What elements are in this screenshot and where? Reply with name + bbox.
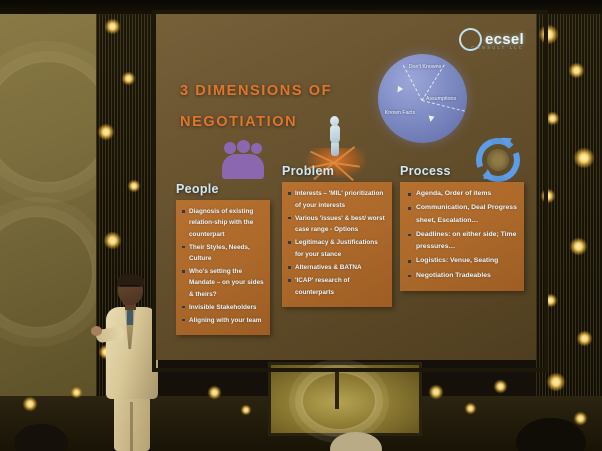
list-item: Communication, Deal Progress sheet, Esca… — [405, 202, 519, 227]
logo-tagline: CONSULT LLC — [471, 45, 524, 50]
list-item: Logistics: Venue, Seating — [405, 255, 519, 268]
sphere-label-dont-knowns: Don't Knowns — [408, 64, 442, 71]
bullet-box-problem: Interests – 'MIL' prioritization of your… — [282, 182, 392, 307]
conference-room-photo: 3 DIMENSIONS OF NEGOTIATION ecsel CONSUL… — [0, 0, 602, 451]
ambient-light — [570, 238, 587, 255]
list-item: Interests – 'MIL' prioritization of your… — [287, 188, 387, 211]
ambient-light — [577, 331, 592, 346]
list-item: Their Styles, Needs, Culture — [181, 242, 265, 265]
ambient-light — [547, 373, 565, 391]
list-item: Legitimacy & Justifications for your sta… — [287, 237, 387, 260]
list-item: Who's setting the Mandate – on your side… — [181, 266, 265, 300]
ambient-light — [241, 405, 251, 415]
list-item: Agenda, Order of items — [405, 188, 519, 201]
ambient-light — [105, 19, 120, 34]
presenter-tie — [127, 309, 133, 325]
ambient-light — [574, 148, 594, 168]
ambient-light — [128, 180, 140, 192]
ambient-light — [574, 412, 587, 425]
bullet-list-process: Agenda, Order of items Communication, De… — [405, 188, 519, 282]
ambient-light — [23, 397, 37, 411]
column-problem: Problem Interests – 'MIL' prioritization… — [282, 164, 392, 307]
bullet-list-people: Diagnosis of existing relation-ship with… — [181, 206, 265, 326]
ambient-light — [122, 72, 135, 85]
list-item: 'ICAP' research of counterparts — [287, 275, 387, 298]
ambient-light — [465, 403, 476, 414]
sphere-arrow-1 — [395, 86, 403, 94]
decorative-art-panel — [268, 362, 422, 436]
ambient-light — [208, 386, 221, 399]
column-people: People Diagnosis of existing relation-sh… — [176, 182, 270, 335]
list-item: Alternatives & BATNA — [287, 262, 387, 274]
column-heading-problem: Problem — [282, 164, 392, 178]
column-heading-people: People — [176, 182, 270, 196]
sphere-label-known-facts: Known Facts — [384, 110, 416, 117]
list-item: Aligning with your team — [181, 315, 265, 326]
column-process: Process Agenda, Order of items Communica… — [400, 164, 524, 291]
list-item: Deadlines: on either side; Time pressure… — [405, 229, 519, 254]
list-item: Invisible Stakeholders — [181, 302, 265, 313]
sphere-arrow-2 — [428, 116, 435, 123]
ambient-light — [104, 232, 121, 249]
ambient-light — [494, 380, 507, 393]
column-heading-process: Process — [400, 164, 524, 178]
projection-screen: 3 DIMENSIONS OF NEGOTIATION ecsel CONSUL… — [156, 14, 536, 360]
list-item: Diagnosis of existing relation-ship with… — [181, 206, 265, 240]
sphere-label-assumptions: Assumptions — [422, 96, 460, 103]
ambient-light — [569, 63, 584, 78]
presenter-legs — [114, 396, 150, 451]
decorative-wall-panel-left — [0, 0, 96, 400]
glasses-icon — [120, 285, 139, 290]
bullet-box-people: Diagnosis of existing relation-ship with… — [176, 200, 270, 335]
ambient-light — [98, 124, 114, 140]
bullet-box-process: Agenda, Order of items Communication, De… — [400, 182, 524, 291]
presenter-hand — [91, 326, 102, 336]
ambient-light — [71, 387, 82, 398]
bullet-list-problem: Interests – 'MIL' prioritization of your… — [287, 188, 387, 298]
knowledge-sphere-diagram: Don't Knowns Assumptions Known Facts — [378, 54, 467, 143]
ambient-light — [429, 385, 443, 399]
slide-title-line1: 3 DIMENSIONS OF — [180, 76, 395, 107]
list-item: Various 'issues' & best/ worst case rang… — [287, 213, 387, 236]
group-of-people-icon — [220, 140, 266, 180]
slide: 3 DIMENSIONS OF NEGOTIATION ecsel CONSUL… — [156, 14, 536, 360]
list-item: Negotiation Tradeables — [405, 270, 519, 283]
